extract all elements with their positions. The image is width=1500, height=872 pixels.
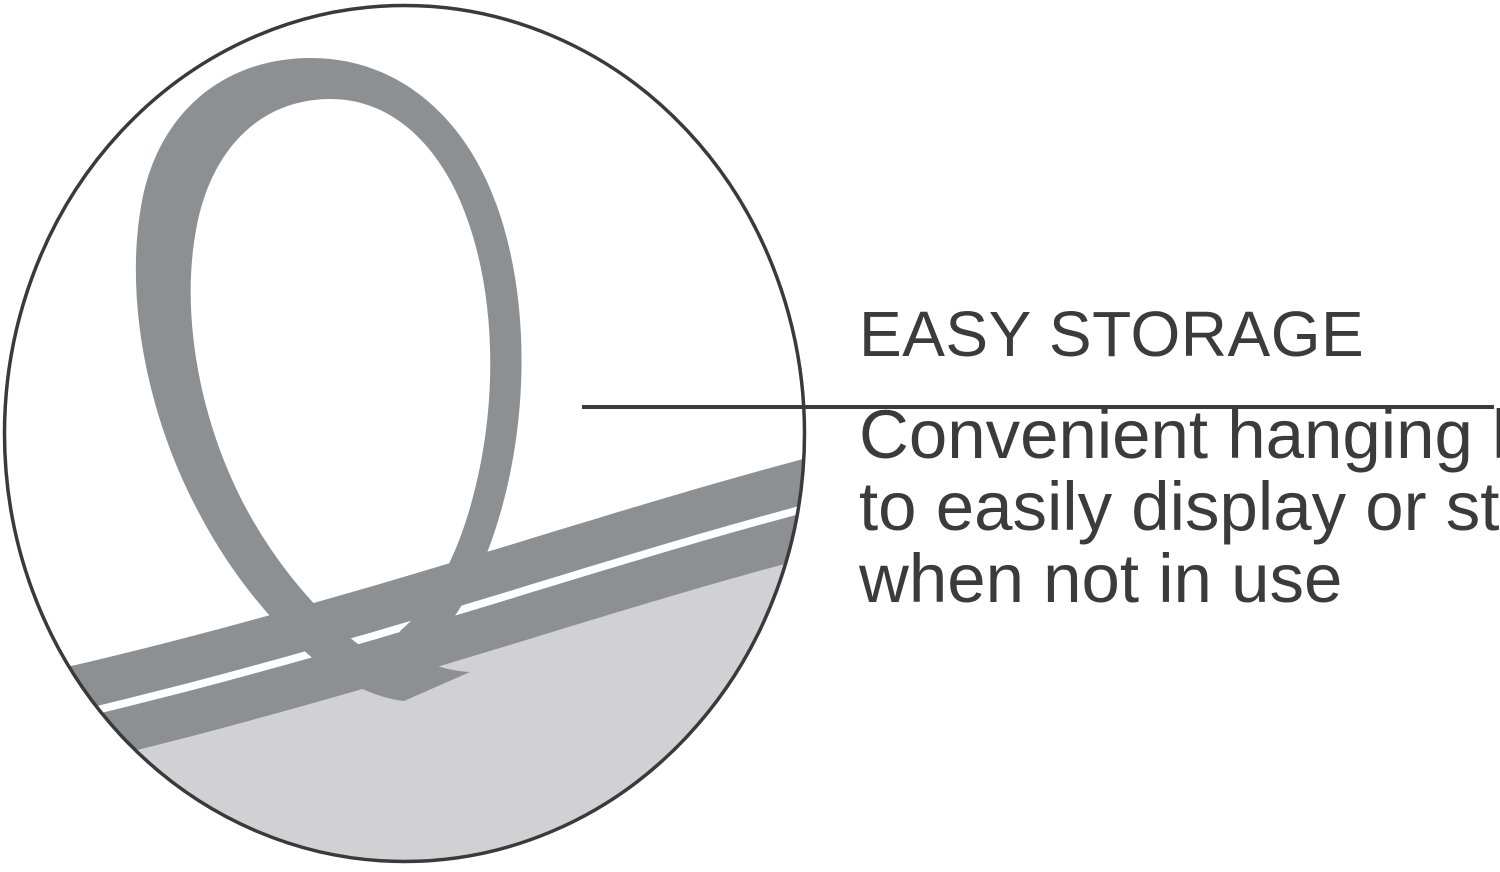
- callout-body-line-3: when not in use: [859, 543, 1497, 615]
- callout-body-line-2: to easily display or store: [859, 471, 1497, 543]
- callout-body-line-1: Convenient hanging loop: [859, 399, 1497, 471]
- callout-text-block: EASY STORAGE Convenient hanging loop to …: [857, 300, 1497, 615]
- feature-callout-graphic: EASY STORAGE Convenient hanging loop to …: [0, 0, 1500, 872]
- hanging-loop-illustration: [0, 0, 840, 872]
- callout-title: EASY STORAGE: [857, 300, 1497, 368]
- callout-body: Convenient hanging loop to easily displa…: [857, 368, 1497, 615]
